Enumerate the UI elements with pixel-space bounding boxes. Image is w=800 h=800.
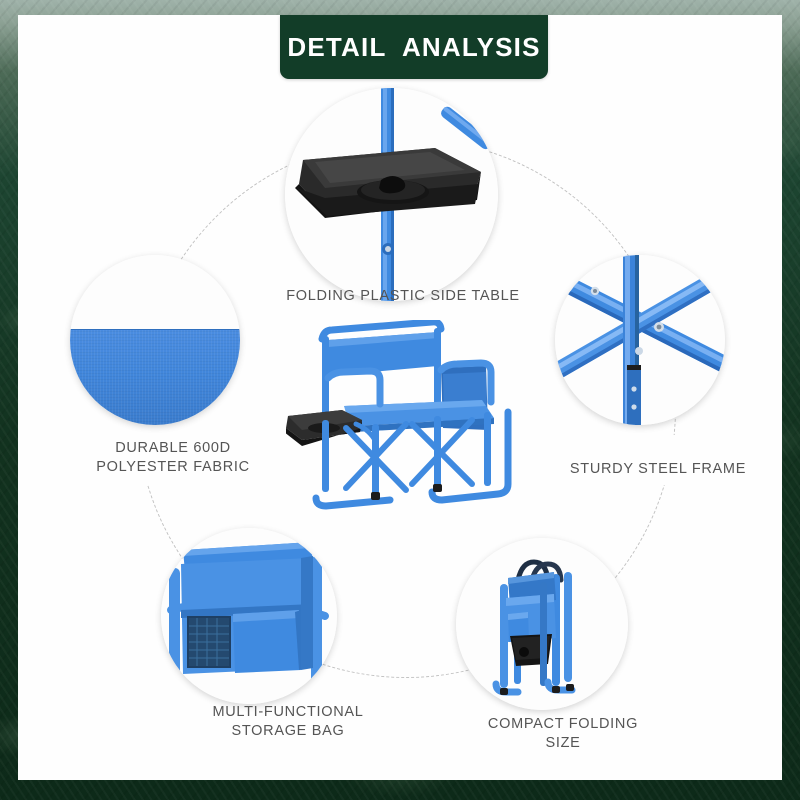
feature-label-storage-bag: MULTI-FUNCTIONAL STORAGE BAG — [158, 703, 418, 741]
feature-image-steel-frame[interactable] — [555, 255, 725, 425]
feature-label-fabric: DURABLE 600D POLYESTER FABRIC — [58, 439, 288, 477]
folding-plastic-side-table-photo — [285, 88, 498, 301]
feature-image-fabric[interactable] — [70, 255, 240, 425]
storage-bag-pockets-photo — [161, 528, 337, 704]
feature-label-steel-frame: STURDY STEEL FRAME — [538, 460, 778, 479]
center-product-image[interactable] — [286, 320, 526, 515]
folded-chair-photo — [456, 538, 628, 710]
feature-label-compact-fold: COMPACT FOLDING SIZE — [438, 715, 688, 753]
title-banner: DETAIL ANALYSIS — [280, 15, 548, 79]
feature-image-side-table[interactable] — [285, 88, 498, 301]
feature-label-side-table: FOLDING PLASTIC SIDE TABLE — [253, 287, 553, 306]
infographic-root: FOLDING PLASTIC SIDE TABLE DURABLE 600D … — [0, 0, 800, 800]
feature-image-compact-fold[interactable] — [456, 538, 628, 710]
feature-image-storage-bag[interactable] — [161, 528, 337, 704]
fabric-blue-area — [70, 330, 240, 425]
polyester-fabric-closeup-photo — [70, 255, 240, 425]
white-content-card: FOLDING PLASTIC SIDE TABLE DURABLE 600D … — [18, 15, 782, 780]
steel-frame-crossbar-photo — [555, 255, 725, 425]
fabric-white-area — [70, 255, 240, 330]
page-title: DETAIL ANALYSIS — [287, 32, 540, 63]
full-chair-product-photo — [286, 320, 526, 515]
